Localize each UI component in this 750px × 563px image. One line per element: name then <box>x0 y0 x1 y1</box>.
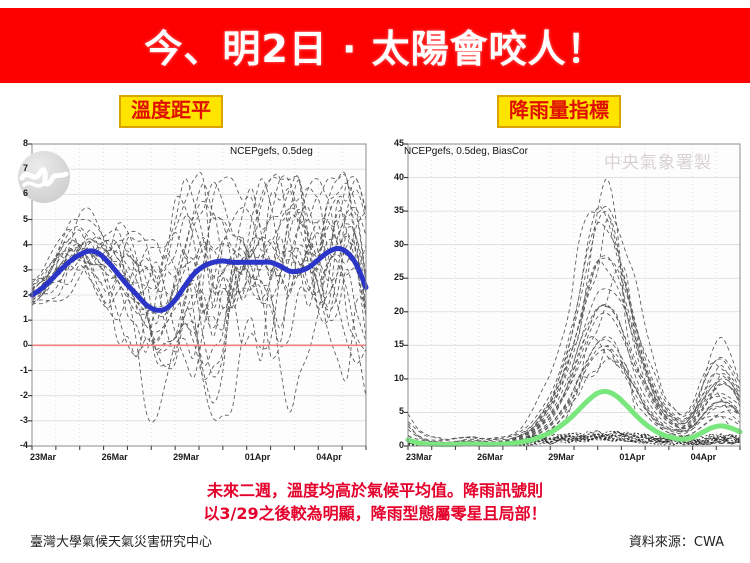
chart-precipitation-index: NCEPgefs, 0.5deg, BiasCor 中央氣象署製 4540353… <box>382 140 748 470</box>
x-axis-tick-label: 04Apr <box>691 452 717 462</box>
header-banner: 今、明2日 · 太陽會咬人！ <box>0 8 750 83</box>
footer-credit: 臺灣大學氣候天氣災害研究中心 <box>30 531 212 550</box>
summary-text: 未來二週，溫度均高於氣候平均值。降雨訊號則 以3/29之後較為明顯，降雨型態屬零… <box>0 479 750 525</box>
y-axis-tick-label: 0 <box>382 440 404 450</box>
y-axis-tick-label: 10 <box>382 373 404 383</box>
slide-root: 今、明2日 · 太陽會咬人！ 溫度距平 降雨量指標 NCEPgefs, 0.5d… <box>0 0 750 563</box>
y-axis-tick-label: 45 <box>382 138 404 148</box>
x-axis-tick-label: 29Mar <box>173 452 199 462</box>
y-axis-tick-label: -2 <box>6 390 28 400</box>
y-axis-tick-label: 25 <box>382 272 404 282</box>
y-axis-tick-label: 15 <box>382 339 404 349</box>
panel-caption-precipitation: 降雨量指標 <box>497 95 621 128</box>
y-axis-tick-label: 7 <box>6 163 28 173</box>
y-axis-tick-label: 8 <box>6 138 28 148</box>
y-axis-tick-label: 5 <box>6 214 28 224</box>
summary-line-2: 以3/29之後較為明顯，降雨型態屬零星且局部！ <box>0 502 750 525</box>
chart-annotation-right: NCEPgefs, 0.5deg, BiasCor <box>404 146 528 157</box>
x-axis-tick-label: 26Mar <box>477 452 503 462</box>
x-axis-tick-label: 29Mar <box>548 452 574 462</box>
y-axis-tick-label: 20 <box>382 306 404 316</box>
x-axis-tick-label: 01Apr <box>619 452 645 462</box>
x-axis-tick-label: 23Mar <box>30 452 56 462</box>
y-axis-tick-label: -1 <box>6 365 28 375</box>
y-axis-tick-label: 4 <box>6 239 28 249</box>
footer-source: 資料來源：CWA <box>629 531 724 550</box>
y-axis-tick-label: 3 <box>6 264 28 274</box>
y-axis-tick-label: 6 <box>6 188 28 198</box>
y-axis-tick-label: 0 <box>6 339 28 349</box>
x-axis-tick-label: 01Apr <box>245 452 271 462</box>
x-axis-tick-label: 23Mar <box>406 452 432 462</box>
y-axis-tick-label: -3 <box>6 415 28 425</box>
y-axis-tick-label: 30 <box>382 239 404 249</box>
x-axis-tick-label: 26Mar <box>102 452 128 462</box>
agency-watermark: 中央氣象署製 <box>604 148 712 173</box>
y-axis-tick-label: 5 <box>382 406 404 416</box>
y-axis-tick-label: 35 <box>382 205 404 215</box>
y-axis-tick-label: 40 <box>382 172 404 182</box>
x-axis-tick-label: 04Apr <box>316 452 342 462</box>
banner-title: 今、明2日 · 太陽會咬人！ <box>144 18 605 73</box>
panel-caption-temperature: 溫度距平 <box>119 95 223 128</box>
y-axis-tick-label: -4 <box>6 440 28 450</box>
precipitation-index-plot <box>382 140 748 470</box>
y-axis-tick-label: 2 <box>6 289 28 299</box>
summary-line-1: 未來二週，溫度均高於氣候平均值。降雨訊號則 <box>0 479 750 502</box>
y-axis-tick-label: 1 <box>6 314 28 324</box>
chart-temperature-anomaly: NCEPgefs, 0.5deg 876543210-1-2-3-423Mar2… <box>2 140 374 470</box>
chart-annotation-left: NCEPgefs, 0.5deg <box>230 146 313 157</box>
